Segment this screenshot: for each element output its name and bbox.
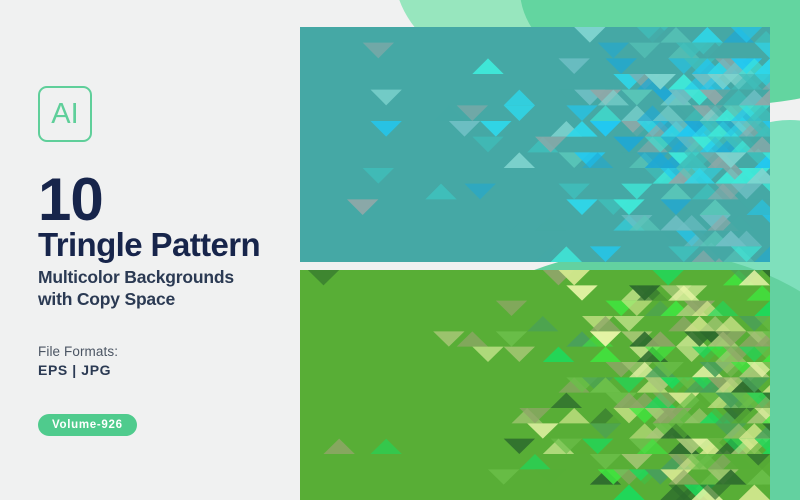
page-title: Tringle Pattern <box>38 228 260 261</box>
page-subtitle: Multicolor Backgrounds with Copy Space <box>38 266 234 310</box>
ai-badge-label: AI <box>51 100 78 129</box>
green-triangle-preview <box>300 270 770 500</box>
file-formats-value: EPS | JPG <box>38 362 111 378</box>
page-subtitle-line-2: with Copy Space <box>38 288 234 310</box>
teal-pattern-svg <box>300 27 770 262</box>
info-column: AI 10 Tringle Pattern Multicolor Backgro… <box>38 0 300 500</box>
volume-badge-label: Volume-926 <box>52 419 123 431</box>
page-subtitle-line-1: Multicolor Backgrounds <box>38 266 234 288</box>
ai-format-badge: AI <box>38 86 92 142</box>
poster-canvas: AI 10 Tringle Pattern Multicolor Backgro… <box>0 0 800 500</box>
volume-badge: Volume-926 <box>38 414 137 436</box>
file-formats-label: File Formats: <box>38 344 118 359</box>
teal-triangle-preview <box>300 27 770 262</box>
page-title-count: 10 <box>38 170 103 230</box>
green-pattern-svg <box>300 270 770 500</box>
